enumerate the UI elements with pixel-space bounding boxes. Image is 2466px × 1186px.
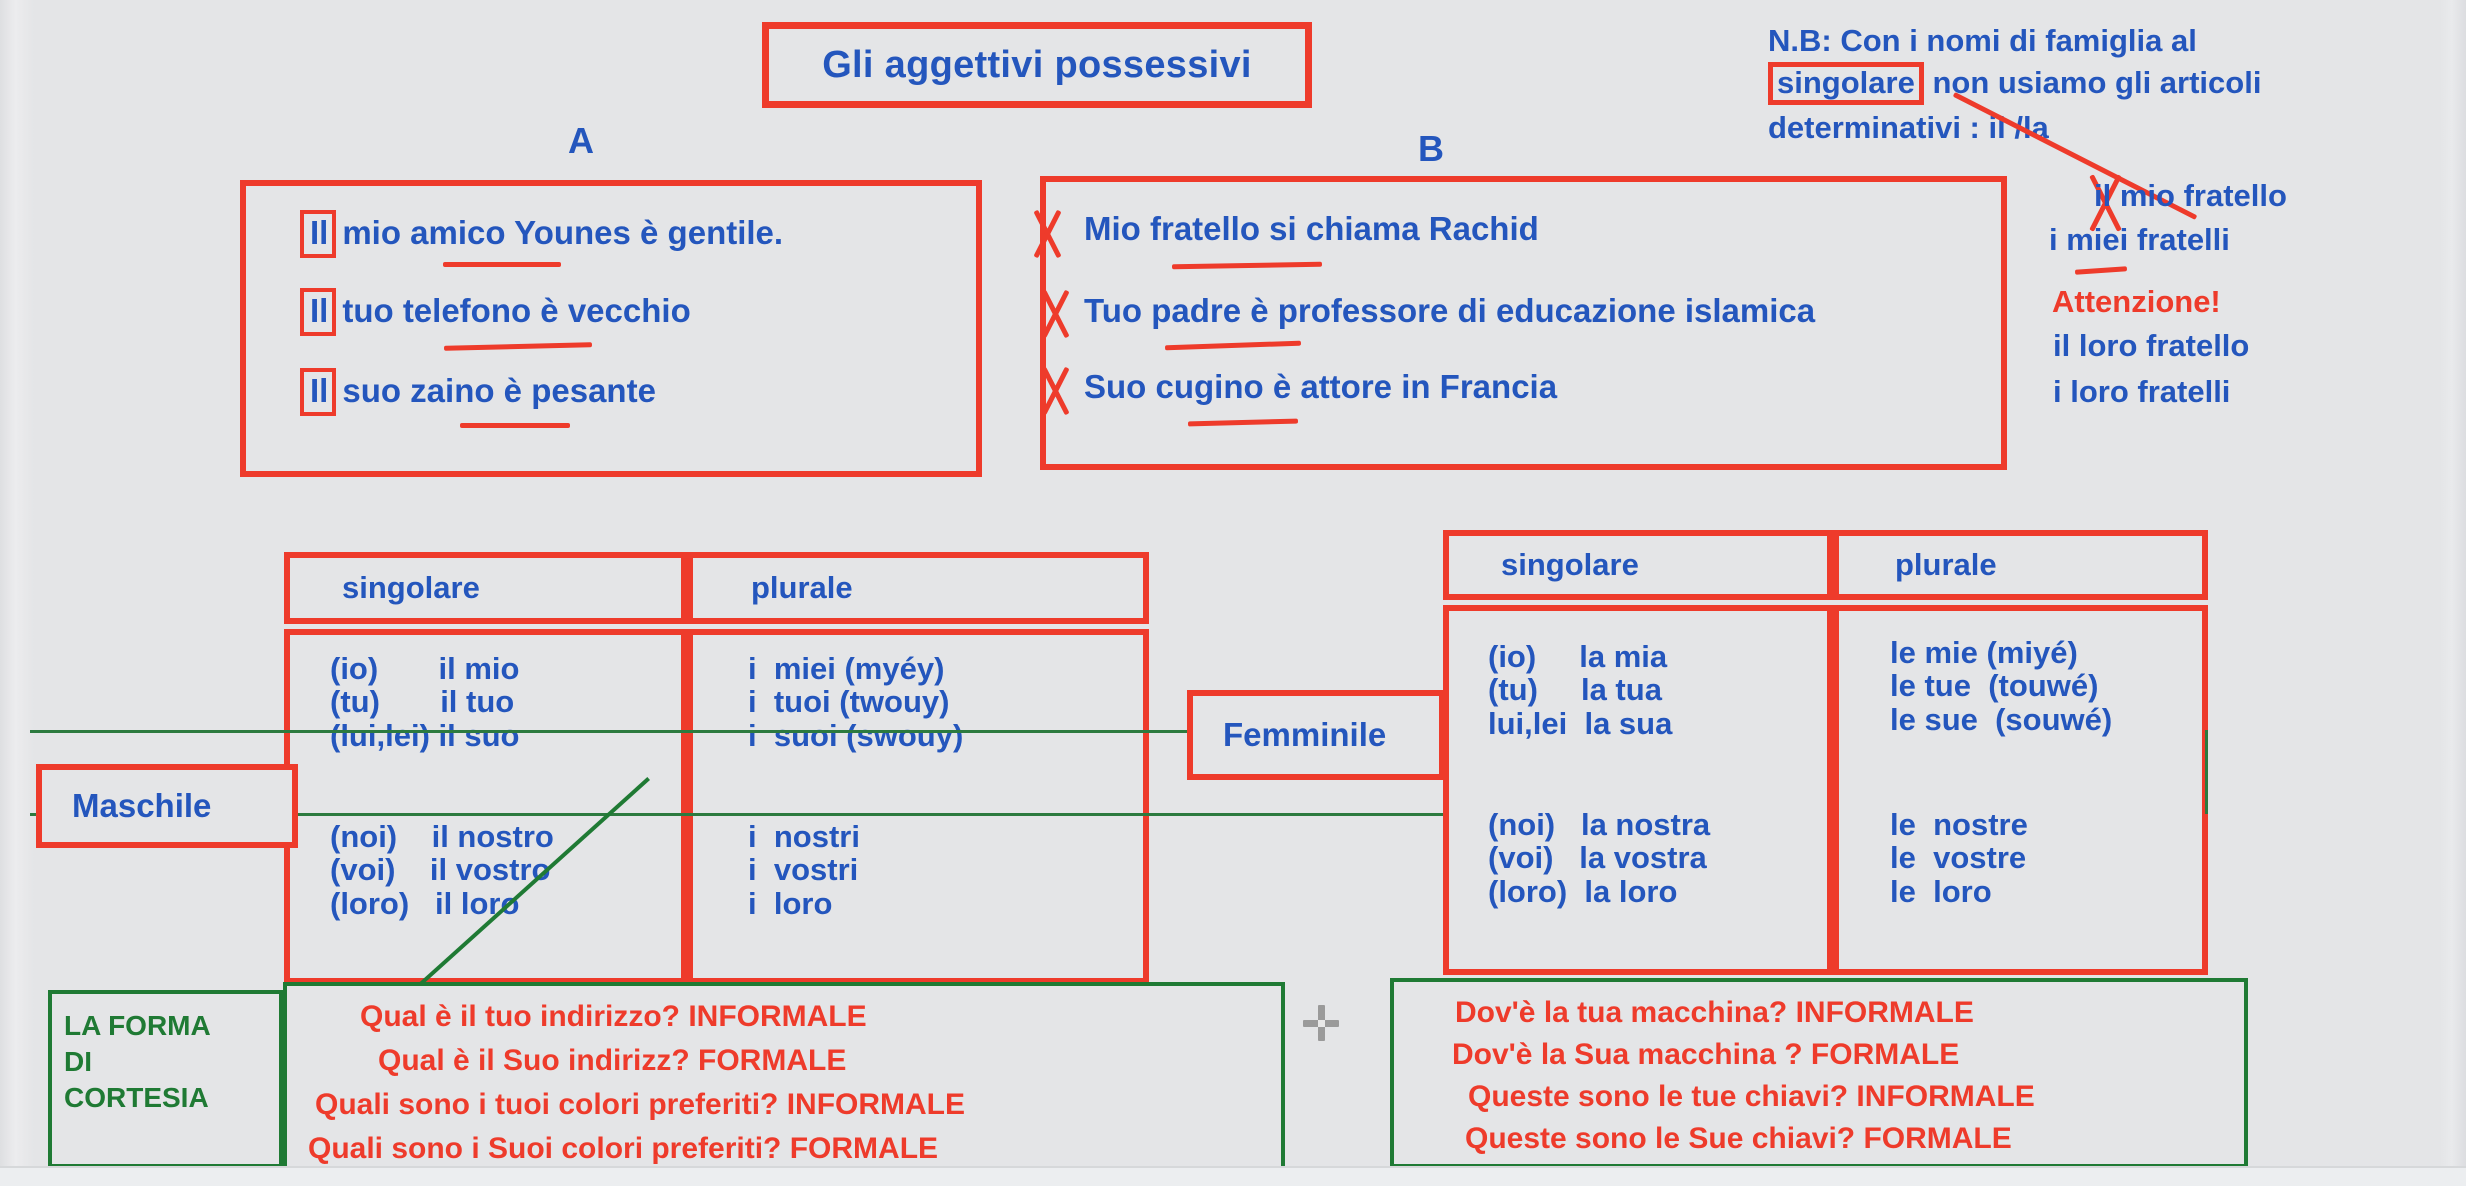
masc-header-plural: plurale bbox=[687, 552, 1149, 624]
courtesy-left-line-1: Qual è il tuo indirizzo? INFORMALE bbox=[360, 1000, 867, 1034]
courtesy-left-line-2: Qual è il Suo indirizz? FORMALE bbox=[378, 1044, 846, 1078]
page-edge-left bbox=[0, 0, 34, 1186]
courtesy-left-line-3: Quali sono i tuoi colori preferiti? INFO… bbox=[315, 1088, 965, 1122]
courtesy-right-line-1: Dov'è la tua macchina? INFORMALE bbox=[1455, 996, 1974, 1030]
example-a-2-text: tuo telefono è vecchio bbox=[342, 292, 690, 329]
fem-header-singular: singolare bbox=[1443, 530, 1833, 600]
section-label-a: A bbox=[568, 120, 594, 162]
x-mark-icon-2 bbox=[1030, 288, 1076, 340]
fem-rows-bottom-plural: le nostre le vostre le loro bbox=[1890, 808, 2028, 908]
page-edge-right bbox=[2440, 0, 2466, 1186]
courtesy-right-line-4: Queste sono le Sue chiavi? FORMALE bbox=[1465, 1122, 2012, 1156]
nb-warning-example-1: il loro fratello bbox=[2053, 328, 2249, 364]
fem-header-plural: plurale bbox=[1833, 530, 2208, 600]
bottom-separator bbox=[0, 1166, 2466, 1186]
whiteboard-canvas: Gli aggettivi possessivi A B Ilmio amico… bbox=[0, 0, 2466, 1186]
label-maschile: Maschile bbox=[36, 764, 298, 848]
attenzione-label: Attenzione! bbox=[2052, 284, 2221, 320]
courtesy-right-line-3: Queste sono le tue chiavi? INFORMALE bbox=[1468, 1080, 2035, 1114]
green-band-right-edge bbox=[2205, 730, 2208, 814]
example-b-1: Mio fratello si chiama Rachid bbox=[1084, 210, 1539, 248]
fem-rows-top-plural: le mie (miyé) le tue (touwé) le sue (sou… bbox=[1890, 636, 2112, 736]
nb-example-1: il mio fratello bbox=[2094, 178, 2287, 214]
fem-rows-top-singular: (io) la mia (tu) la tua lui,lei la sua bbox=[1488, 640, 1672, 740]
underline-nb bbox=[2075, 266, 2127, 275]
underline-amico bbox=[443, 262, 561, 267]
example-b-3: Suo cugino è attore in Francia bbox=[1084, 368, 1557, 406]
example-a-2: Iltuo telefono è vecchio bbox=[300, 288, 691, 336]
page-title: Gli aggettivi possessivi bbox=[822, 44, 1252, 87]
masc-rows-bottom-plural: i nostri i vostri i loro bbox=[748, 820, 860, 920]
crosshair-cursor-icon bbox=[1300, 1002, 1342, 1044]
x-mark-icon-3 bbox=[1030, 365, 1076, 417]
masc-header-singular: singolare bbox=[284, 552, 687, 624]
label-femminile: Femminile bbox=[1187, 690, 1445, 780]
section-label-b: B bbox=[1418, 128, 1444, 170]
example-a-1-text: mio amico Younes è gentile. bbox=[342, 214, 783, 251]
title-box: Gli aggettivi possessivi bbox=[762, 22, 1312, 108]
underline-zaino bbox=[460, 423, 570, 428]
example-a-1: Ilmio amico Younes è gentile. bbox=[300, 210, 783, 258]
fem-rows-bottom-singular: (noi) la nostra (voi) la vostra (loro) l… bbox=[1488, 808, 1710, 908]
masc-rows-top-singular: (io) il mio (tu) il tuo (lui,lei) il suo bbox=[330, 652, 519, 752]
x-mark-icon-1 bbox=[1022, 208, 1068, 260]
label-forma-di-cortesia: LA FORMA DI CORTESIA bbox=[48, 990, 283, 1168]
nb-line-1: N.B: Con i nomi di famiglia al bbox=[1768, 22, 2408, 60]
article-box-3: Il bbox=[300, 368, 336, 416]
courtesy-left-line-4: Quali sono i Suoi colori preferiti? FORM… bbox=[308, 1132, 938, 1166]
courtesy-right-line-2: Dov'è la Sua macchina ? FORMALE bbox=[1452, 1038, 1959, 1072]
example-b-2: Tuo padre è professore di educazione isl… bbox=[1084, 292, 1815, 330]
nb-warning-example-2: i loro fratelli bbox=[2053, 374, 2230, 410]
article-box-1: Il bbox=[300, 210, 336, 258]
masc-rows-top-plural: i miei (myéy) i tuoi (twouy) i suoi (swo… bbox=[748, 652, 963, 752]
example-a-3: Ilsuo zaino è pesante bbox=[300, 368, 656, 416]
nb-highlight-singolare: singolare bbox=[1768, 62, 1924, 105]
article-box-2: Il bbox=[300, 288, 336, 336]
nb-example-2: i miei fratelli bbox=[2049, 222, 2230, 258]
example-a-3-text: suo zaino è pesante bbox=[342, 372, 656, 409]
